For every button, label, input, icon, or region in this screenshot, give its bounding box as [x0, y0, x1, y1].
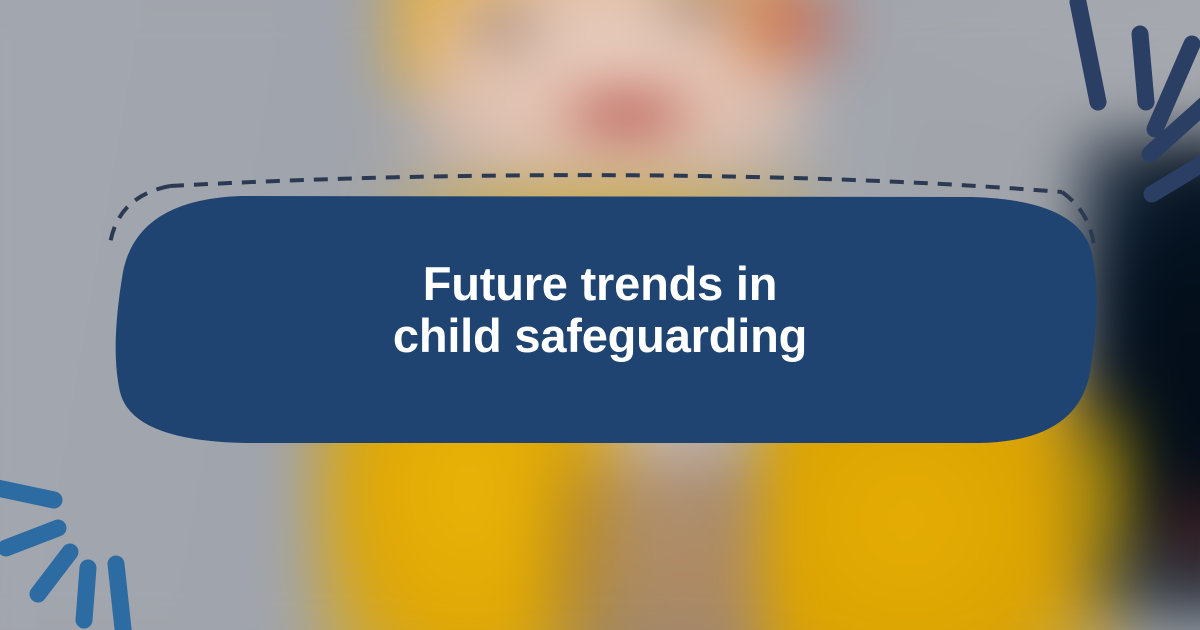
pill-body: [116, 196, 1097, 443]
social-card-canvas: Future trends in child safeguarding: [0, 0, 1200, 630]
pill-dashed-outline-top: [170, 175, 1062, 192]
headline-pill: [0, 0, 1200, 630]
